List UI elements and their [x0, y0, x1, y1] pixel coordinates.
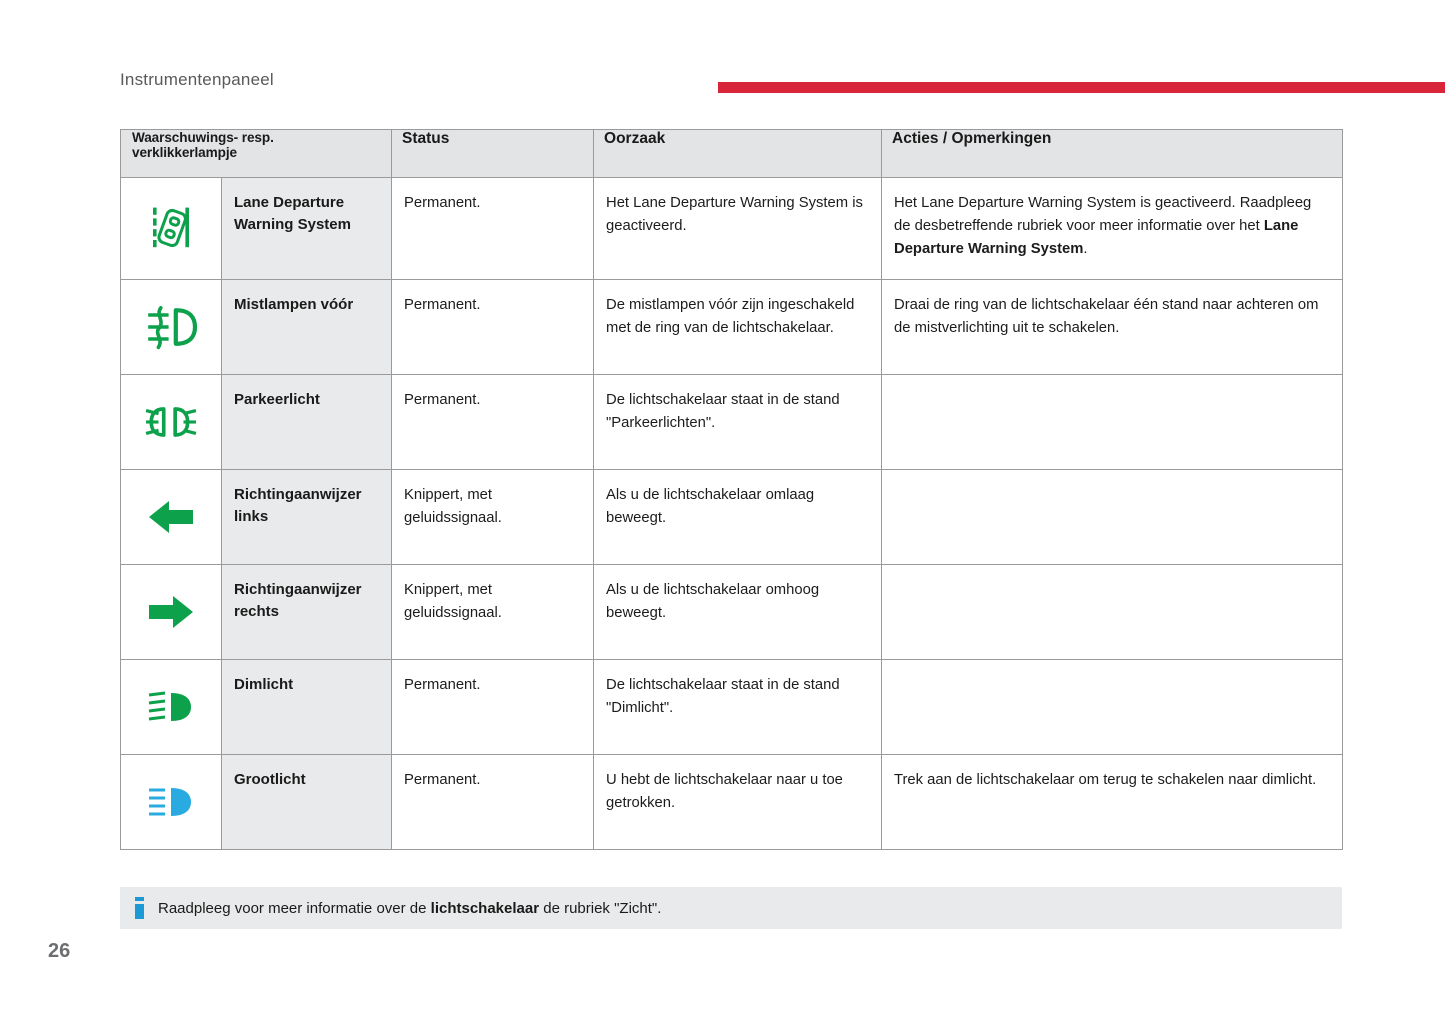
info-note: Raadpleeg voor meer informatie over de l…	[120, 887, 1342, 929]
table-body: Lane Departure Warning SystemPermanent.H…	[121, 178, 1343, 850]
column-header-actions: Acties / Opmerkingen	[882, 130, 1343, 178]
warning-lights-table: Waarschuwings- resp. verklikkerlampje St…	[120, 129, 1343, 850]
turn-signal-right-icon	[121, 587, 221, 637]
manual-page: Instrumentenpaneel Waarschuwings- resp. …	[0, 0, 1445, 1026]
table-row: GrootlichtPermanent.U hebt de lichtschak…	[121, 754, 1343, 849]
info-icon	[135, 897, 144, 919]
warning-symbol-cell	[121, 279, 222, 374]
info-note-bold: lichtschakelaar	[431, 900, 539, 917]
table-row: ParkeerlichtPermanent.De lichtschakelaar…	[121, 374, 1343, 469]
page-header: Instrumentenpaneel	[0, 70, 1445, 110]
warning-name-cell: Mistlampen vóór	[222, 279, 392, 374]
table-row: DimlichtPermanent.De lichtschakelaar sta…	[121, 659, 1343, 754]
turn-signal-left-icon	[121, 492, 221, 542]
table-row: Lane Departure Warning SystemPermanent.H…	[121, 178, 1343, 280]
warning-symbol-cell	[121, 374, 222, 469]
warning-status-cell: Permanent.	[392, 178, 594, 280]
warning-action-cell: Draai de ring van de lichtschakelaar één…	[882, 279, 1343, 374]
warning-status-cell: Permanent.	[392, 374, 594, 469]
column-header-symbol: Waarschuwings- resp. verklikkerlampje	[121, 130, 392, 178]
column-header-status: Status	[392, 130, 594, 178]
action-text-pre: Het Lane Departure Warning System is gea…	[894, 195, 1311, 234]
warning-symbol-cell	[121, 564, 222, 659]
info-note-post: de rubriek "Zicht".	[539, 900, 661, 917]
warning-cause-cell: Het Lane Departure Warning System is gea…	[594, 178, 882, 280]
warning-cause-cell: De mistlampen vóór zijn ingeschakeld met…	[594, 279, 882, 374]
warning-symbol-cell	[121, 659, 222, 754]
warning-name-cell: Richtingaanwijzer rechts	[222, 564, 392, 659]
warning-cause-cell: De lichtschakelaar staat in de stand "Pa…	[594, 374, 882, 469]
warning-name-cell: Richtingaanwijzer links	[222, 469, 392, 564]
action-text-post: .	[1083, 241, 1087, 257]
warning-cause-cell: U hebt de lichtschakelaar naar u toe get…	[594, 754, 882, 849]
warning-name-cell: Parkeerlicht	[222, 374, 392, 469]
warning-symbol-cell	[121, 178, 222, 280]
warning-status-cell: Permanent.	[392, 659, 594, 754]
warning-name-cell: Grootlicht	[222, 754, 392, 849]
lane-departure-warning-icon	[121, 198, 221, 258]
warning-action-cell	[882, 659, 1343, 754]
table-header-row: Waarschuwings- resp. verklikkerlampje St…	[121, 130, 1343, 178]
warning-name-cell: Lane Departure Warning System	[222, 178, 392, 280]
parking-light-icon	[121, 396, 221, 448]
dipped-beam-icon	[121, 682, 221, 732]
table-row: Mistlampen vóórPermanent.De mistlampen v…	[121, 279, 1343, 374]
warning-action-cell	[882, 564, 1343, 659]
table-header: Waarschuwings- resp. verklikkerlampje St…	[121, 130, 1343, 178]
header-red-rule	[718, 82, 1445, 93]
action-text-pre: Draai de ring van de lichtschakelaar één…	[894, 297, 1318, 336]
page-title: Instrumentenpaneel	[120, 70, 274, 90]
warning-action-cell: Het Lane Departure Warning System is gea…	[882, 178, 1343, 280]
warning-cause-cell: De lichtschakelaar staat in de stand "Di…	[594, 659, 882, 754]
warning-status-cell: Knippert, met geluidssignaal.	[392, 564, 594, 659]
warning-status-cell: Knippert, met geluidssignaal.	[392, 469, 594, 564]
warning-cause-cell: Als u de lichtschakelaar omhoog beweegt.	[594, 564, 882, 659]
table-row: Richtingaanwijzer linksKnippert, met gel…	[121, 469, 1343, 564]
action-text-pre: Trek aan de lichtschakelaar om terug te …	[894, 772, 1316, 788]
page-number: 26	[48, 940, 70, 963]
warning-status-cell: Permanent.	[392, 754, 594, 849]
warning-action-cell	[882, 374, 1343, 469]
warning-action-cell: Trek aan de lichtschakelaar om terug te …	[882, 754, 1343, 849]
main-beam-icon	[121, 777, 221, 827]
warning-cause-cell: Als u de lichtschakelaar omlaag beweegt.	[594, 469, 882, 564]
warning-symbol-cell	[121, 754, 222, 849]
info-note-pre: Raadpleeg voor meer informatie over de	[158, 900, 431, 917]
warning-name-cell: Dimlicht	[222, 659, 392, 754]
table-row: Richtingaanwijzer rechtsKnippert, met ge…	[121, 564, 1343, 659]
warning-symbol-cell	[121, 469, 222, 564]
column-header-cause: Oorzaak	[594, 130, 882, 178]
front-fog-lamp-icon	[121, 297, 221, 357]
warning-action-cell	[882, 469, 1343, 564]
info-note-text: Raadpleeg voor meer informatie over de l…	[158, 900, 661, 917]
warning-status-cell: Permanent.	[392, 279, 594, 374]
